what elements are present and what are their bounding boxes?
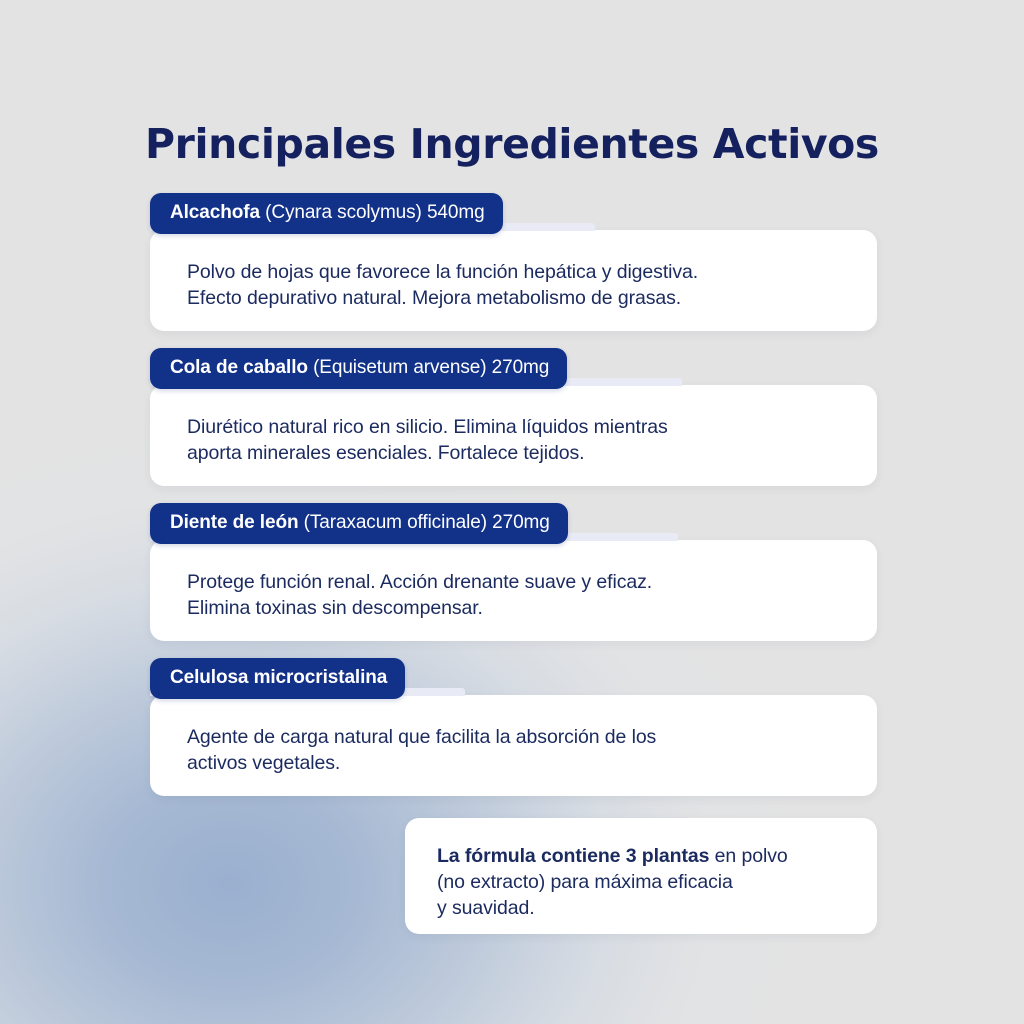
note-line: (no extracto) para máxima eficacia <box>437 869 849 895</box>
ingredient-dose: 540mg <box>427 202 485 223</box>
ingredient-badge-diente-de-leon: Diente de león (Taraxacum officinale) 27… <box>150 503 568 544</box>
ingredient-description: Diurético natural rico en silicio. Elimi… <box>150 385 877 492</box>
page-title: Principales Ingredientes Activos <box>0 119 1024 169</box>
description-line: Diurético natural rico en silicio. Elimi… <box>187 414 847 440</box>
note-rest: en polvo <box>709 845 787 867</box>
note-emphasis: La fórmula contiene 3 plantas <box>437 845 709 867</box>
ingredient-description: Protege función renal. Acción drenante s… <box>150 540 877 647</box>
content-layer: Principales Ingredientes Activos Alcacho… <box>0 0 1024 1024</box>
description-line: activos vegetales. <box>187 750 847 776</box>
note-line: La fórmula contiene 3 plantas en polvo <box>437 843 849 869</box>
description-line: Elimina toxinas sin descompensar. <box>187 595 847 621</box>
ingredient-badge-celulosa-microcristalina: Celulosa microcristalina <box>150 658 405 699</box>
description-line: Polvo de hojas que favorece la función h… <box>187 259 847 285</box>
ingredient-latin-name: (Taraxacum officinale) <box>304 512 487 533</box>
note-line: y suavidad. <box>437 895 849 921</box>
ingredient-dose: 270mg <box>492 357 550 378</box>
ingredient-badge-alcachofa: Alcachofa (Cynara scolymus) 540mg <box>150 193 503 234</box>
ingredient-card-diente-de-leon: Diente de león (Taraxacum officinale) 27… <box>150 540 877 641</box>
ingredient-name: Celulosa microcristalina <box>170 667 387 688</box>
ingredient-description: Agente de carga natural que facilita la … <box>150 695 877 802</box>
ingredient-latin-name: (Cynara scolymus) <box>265 202 422 223</box>
ingredient-card-cola-de-caballo: Cola de caballo (Equisetum arvense) 270m… <box>150 385 877 486</box>
description-line: Efecto depurativo natural. Mejora metabo… <box>187 285 847 311</box>
description-line: Protege función renal. Acción drenante s… <box>187 569 847 595</box>
formula-note-card: La fórmula contiene 3 plantas en polvo (… <box>405 818 877 934</box>
ingredient-card-celulosa-microcristalina: Celulosa microcristalina Agente de carga… <box>150 695 877 796</box>
ingredient-badge-cola-de-caballo: Cola de caballo (Equisetum arvense) 270m… <box>150 348 567 389</box>
ingredient-name: Diente de león <box>170 512 298 533</box>
description-line: Agente de carga natural que facilita la … <box>187 724 847 750</box>
infographic-canvas: Principales Ingredientes Activos Alcacho… <box>0 0 1024 1024</box>
ingredient-description: Polvo de hojas que favorece la función h… <box>150 230 877 337</box>
formula-note-text: La fórmula contiene 3 plantas en polvo (… <box>405 818 877 943</box>
ingredient-name: Alcachofa <box>170 202 260 223</box>
description-line: aporta minerales esenciales. Fortalece t… <box>187 440 847 466</box>
ingredient-latin-name: (Equisetum arvense) <box>313 357 486 378</box>
ingredient-dose: 270mg <box>492 512 550 533</box>
ingredient-card-alcachofa: Alcachofa (Cynara scolymus) 540mg Polvo … <box>150 230 877 331</box>
ingredient-name: Cola de caballo <box>170 357 308 378</box>
